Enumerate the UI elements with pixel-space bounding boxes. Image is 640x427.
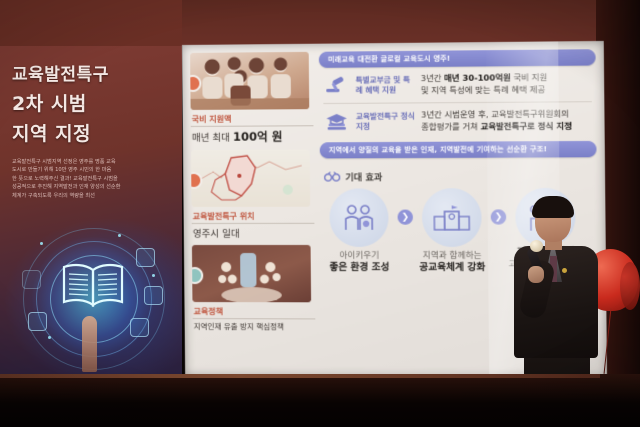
gavel-handshake-icon: [323, 74, 350, 98]
divider: [191, 125, 314, 127]
effect-item-2: 지역과 함께하는 공교육체계 강화: [413, 188, 492, 274]
slide-title-panel: 교육발전특구 2차 시범 지역 지정 교육발전특구 시범지역 선정은 영주를 명…: [0, 46, 182, 374]
family-parenting-icon: [329, 188, 388, 247]
body-line: 도시로 만들기 위해 10만 영주 시민의 한 마음: [12, 166, 162, 174]
stage-floor: [0, 374, 640, 427]
slide-title-block: 교육발전특구 2차 시범 지역 지정: [12, 60, 170, 146]
map-graphic: [191, 149, 310, 207]
pointing-hand: [82, 316, 97, 372]
effects-heading: 기대 효과: [345, 170, 382, 183]
value-pre: 3년간 시범운영 후, 교육발전특구위원회의: [421, 109, 569, 120]
arrow-icon-1: ❯: [398, 210, 413, 225]
benefit-key: 특별교부금 및 특례 혜택 지원: [356, 75, 415, 95]
benefit-value: 3년간 시범운영 후, 교육발전특구위원회의 종합평가를 거쳐 교육발전특구로 …: [421, 109, 572, 134]
title-line-3: 지역 지정: [12, 119, 170, 146]
effect-line-2: 좋은 환경 조성: [321, 262, 398, 274]
body-line: 체계가 구축되도록 우리의 역량을 최선: [12, 192, 162, 200]
value-line2: 및 지역 특성에 맞는 특례 혜택 제공: [421, 84, 545, 95]
value-bold: 매년 30-100억원: [444, 73, 511, 84]
body-line: 한 뜻으로 노력해주신 결과! 교육발전특구 시범을: [12, 175, 162, 183]
value-line2-bold: 교육발전특구로 정식 지정: [481, 121, 572, 132]
divider: [323, 101, 592, 104]
open-book-icon: [18, 224, 168, 372]
microphone-head: [530, 240, 543, 252]
title-line-2: 2차 시범: [12, 89, 170, 116]
benefit-key: 교육발전특구 정식 지정: [356, 112, 415, 132]
stage-photo: 교육발전특구 2차 시범 지역 지정 교육발전특구 시범지역 선정은 영주를 명…: [0, 0, 640, 427]
pill-header-bottom-wrap: 지역에서 양질의 교육을 받은 인재, 지역발전에 기여하는 선순환 구조!: [320, 141, 597, 158]
binoculars-icon: [324, 167, 340, 186]
divider: [192, 223, 315, 224]
pill-header-bottom: 지역에서 양질의 교육을 받은 인재, 지역발전에 기여하는 선순환 구조!: [320, 141, 597, 158]
benefit-row-2: 교육발전특구 정식 지정 3년간 시범운영 후, 교육발전특구위원회의 종합평가…: [323, 108, 596, 134]
card-label: 교육발전특구 위치: [193, 211, 315, 222]
lapel-pin: [562, 268, 567, 273]
school-building-icon: [422, 188, 482, 247]
pill-header-top: 미래교육 대전환 글로컬 교육도시 영주!: [319, 49, 596, 68]
benefit-row-1: 특별교부금 및 특례 혜택 지원 3년간 매년 30-100억원 국비 지원 및…: [323, 72, 596, 98]
effect-line-2: 공교육체계 강화: [413, 262, 491, 274]
effect-line-1: 아이키우기: [321, 251, 398, 262]
card-value: 지역인재 유출 방지 핵심정책: [194, 321, 316, 332]
card-value: 영주시 일대: [193, 226, 315, 240]
card-policy: 교육정책 지역인재 유출 방지 핵심정책: [192, 245, 316, 333]
effect-item-1: 아이키우기 좋은 환경 조성: [320, 188, 398, 273]
child-education-photo: [192, 245, 311, 302]
value-line2-pre: 종합평가를 거쳐: [421, 121, 480, 131]
card-label: 교육정책: [194, 306, 316, 317]
lamp-icon: [136, 248, 155, 267]
person-icon: [28, 312, 47, 331]
students-photo: [190, 52, 309, 110]
arrow-icon-2: ❯: [491, 209, 507, 224]
value-post: 국비 지원: [511, 72, 548, 82]
book-glyph: [59, 260, 127, 308]
title-body-text: 교육발전특구 시범지역 선정은 영주를 명품 교육 도시로 만들기 위해 10만…: [12, 158, 162, 200]
value-pre: 3년간: [421, 73, 445, 83]
body-line: 교육발전특구 시범지역 선정은 영주를 명품 교육: [12, 158, 162, 166]
divider: [193, 318, 316, 319]
certificate-icon: [130, 318, 149, 337]
effect-line-1: 지역과 함께하는: [413, 251, 491, 262]
card-funding: 국비 지원액 매년 최대 100억 원: [190, 52, 314, 145]
body-line: 성공적으로 추진해 지역발전과 인재 양성의 선순환: [12, 183, 162, 191]
presenter-hair: [532, 196, 574, 218]
trophy-icon: [144, 286, 163, 305]
effects-heading-row: 기대 효과: [324, 166, 597, 186]
graduation-cap-books-icon: [323, 110, 350, 134]
card-value-prefix: 매년 최대: [192, 133, 233, 144]
network-icon: [22, 270, 41, 289]
slide-card-column: 국비 지원액 매년 최대 100억 원 교육발전특구 위치: [190, 52, 315, 338]
card-label: 국비 지원액: [192, 113, 314, 125]
card-value-strong: 100억 원: [233, 129, 283, 143]
stage-edge: [0, 374, 600, 378]
red-balloon-secondary: [620, 262, 640, 310]
presenter-hand: [528, 266, 544, 283]
card-location: 교육발전특구 위치 영주시 일대: [191, 149, 315, 240]
title-line-1: 교육발전특구: [12, 60, 170, 85]
card-value: 매년 최대 100억 원: [192, 128, 314, 145]
benefit-value: 3년간 매년 30-100억원 국비 지원 및 지역 특성에 맞는 특례 혜택 …: [421, 72, 548, 97]
